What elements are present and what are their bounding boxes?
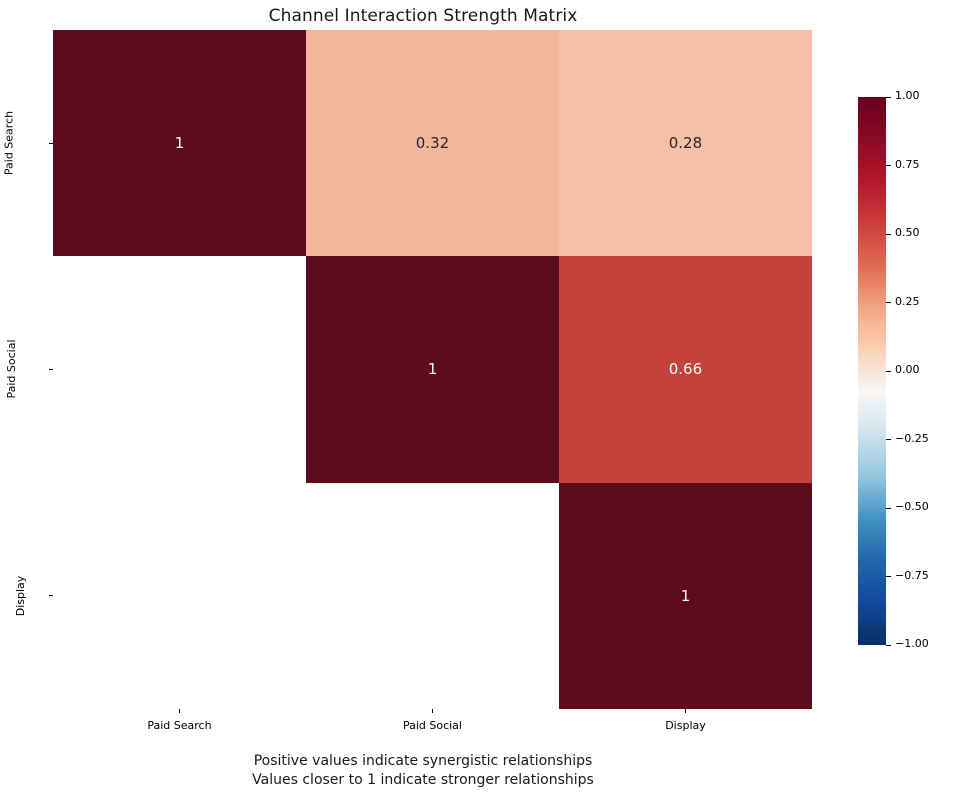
heatmap-cell <box>53 483 306 709</box>
heatmap-cell-value: 1 <box>175 134 185 152</box>
heatmap-cell <box>53 256 306 482</box>
heatmap-cell[interactable]: 0.66 <box>559 256 812 482</box>
chart-caption: Positive values indicate synergistic rel… <box>0 752 846 790</box>
heatmap-cell[interactable]: 0.28 <box>559 30 812 256</box>
colorbar-tick-label: 0.50 <box>895 226 920 239</box>
colorbar-tick-label: −0.25 <box>895 432 929 445</box>
heatmap-cell[interactable]: 1 <box>53 30 306 256</box>
y-tick-label: Paid Search <box>2 111 15 175</box>
x-tick-label: Display <box>559 719 812 732</box>
heatmap-row: 1 0.32 0.28 <box>53 30 812 256</box>
colorbar-tick-mark <box>886 576 891 577</box>
x-tick-label: Paid Social <box>306 719 559 732</box>
colorbar-tick-mark <box>886 165 891 166</box>
colorbar-tick-label: 0.25 <box>895 295 920 308</box>
heatmap-cell[interactable]: 1 <box>306 256 559 482</box>
heatmap-cell <box>306 483 559 709</box>
caption-line-2: Values closer to 1 indicate stronger rel… <box>0 771 846 790</box>
colorbar-tick-mark <box>886 302 891 303</box>
y-tick-paid-search: Paid Search <box>0 30 53 256</box>
colorbar-tick-label: 0.00 <box>895 363 920 376</box>
heatmap-row: 1 <box>53 483 812 709</box>
heatmap-cell-value: 1 <box>681 587 691 605</box>
colorbar-tick-mark <box>886 371 891 372</box>
colorbar-tick-mark <box>886 508 891 509</box>
colorbar-tick-label: −1.00 <box>895 637 929 650</box>
y-axis: Paid Search Paid Social Display <box>0 30 53 709</box>
heatmap-cell-value: 0.66 <box>669 360 702 378</box>
y-tick-label: Paid Social <box>5 340 18 399</box>
x-tick-paid-search: Paid Search <box>53 709 306 743</box>
heatmap-cell-value: 0.32 <box>416 134 449 152</box>
y-tick-display: Display <box>0 483 53 709</box>
x-tick-mark <box>685 709 686 713</box>
x-tick-mark <box>432 709 433 713</box>
colorbar-tick-mark <box>886 439 891 440</box>
heatmap-cell[interactable]: 1 <box>559 483 812 709</box>
x-tick-label: Paid Search <box>53 719 306 732</box>
heatmap-cell-value: 1 <box>428 360 438 378</box>
colorbar-tick-label: 1.00 <box>895 89 920 102</box>
colorbar-tick-mark <box>886 645 891 646</box>
colorbar-tick-mark <box>886 97 891 98</box>
y-tick-label: Display <box>14 576 27 617</box>
heatmap-row: 1 0.66 <box>53 256 812 482</box>
colorbar-tick-mark <box>886 234 891 235</box>
y-tick-paid-social: Paid Social <box>0 256 53 482</box>
heatmap-plot: 1 0.32 0.28 1 0.66 1 <box>53 30 812 709</box>
heatmap-cell-value: 0.28 <box>669 134 702 152</box>
x-tick-paid-social: Paid Social <box>306 709 559 743</box>
x-axis: Paid Search Paid Social Display <box>53 709 812 743</box>
colorbar: 1.000.750.500.250.00−0.25−0.50−0.75−1.00 <box>858 97 958 645</box>
colorbar-tick-label: −0.50 <box>895 500 929 513</box>
heatmap-cell[interactable]: 0.32 <box>306 30 559 256</box>
colorbar-tick-label: −0.75 <box>895 569 929 582</box>
caption-line-1: Positive values indicate synergistic rel… <box>0 752 846 771</box>
colorbar-tick-label: 0.75 <box>895 158 920 171</box>
x-tick-display: Display <box>559 709 812 743</box>
colorbar-gradient <box>858 97 886 645</box>
x-tick-mark <box>179 709 180 713</box>
page-title: Channel Interaction Strength Matrix <box>0 6 846 26</box>
